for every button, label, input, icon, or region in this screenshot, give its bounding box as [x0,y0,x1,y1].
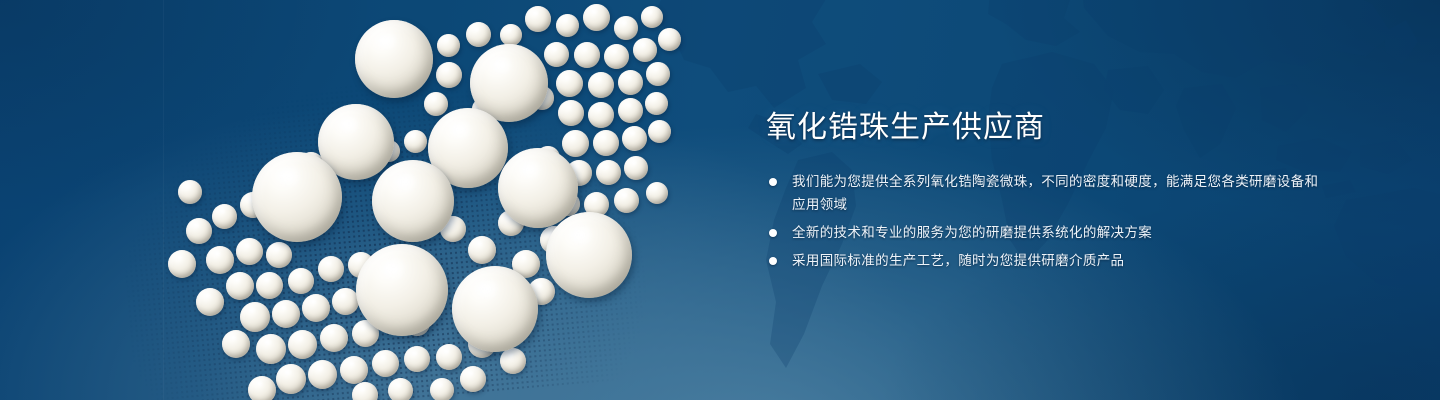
list-item-label: 全新的技术和专业的服务为您的研磨提供系统化的解决方案 [792,225,1152,240]
filled-circle-bullet-icon [769,229,777,237]
list-item-label: 采用国际标准的生产工艺，随时为您提供研磨介质产品 [792,253,1124,268]
feature-list: 我们能为您提供全系列氧化锆陶瓷微珠，不同的密度和硬度，能满足您各类研磨设备和应用… [766,170,1326,272]
list-item: 采用国际标准的生产工艺，随时为您提供研磨介质产品 [766,249,1326,272]
page-title: 氧化锆珠生产供应商 [766,108,1326,148]
banner-copy-block: 氧化锆珠生产供应商 我们能为您提供全系列氧化锆陶瓷微珠，不同的密度和硬度，能满足… [766,108,1326,272]
hero-banner: 氧化锆珠生产供应商 我们能为您提供全系列氧化锆陶瓷微珠，不同的密度和硬度，能满足… [0,0,1440,400]
list-item-label: 我们能为您提供全系列氧化锆陶瓷微珠，不同的密度和硬度，能满足您各类研磨设备和应用… [792,174,1318,212]
filled-circle-bullet-icon [769,257,777,265]
filled-circle-bullet-icon [769,178,777,186]
list-item: 我们能为您提供全系列氧化锆陶瓷微珠，不同的密度和硬度，能满足您各类研磨设备和应用… [766,170,1326,216]
list-item: 全新的技术和专业的服务为您的研磨提供系统化的解决方案 [766,221,1326,244]
image-layer-seam [163,0,164,400]
